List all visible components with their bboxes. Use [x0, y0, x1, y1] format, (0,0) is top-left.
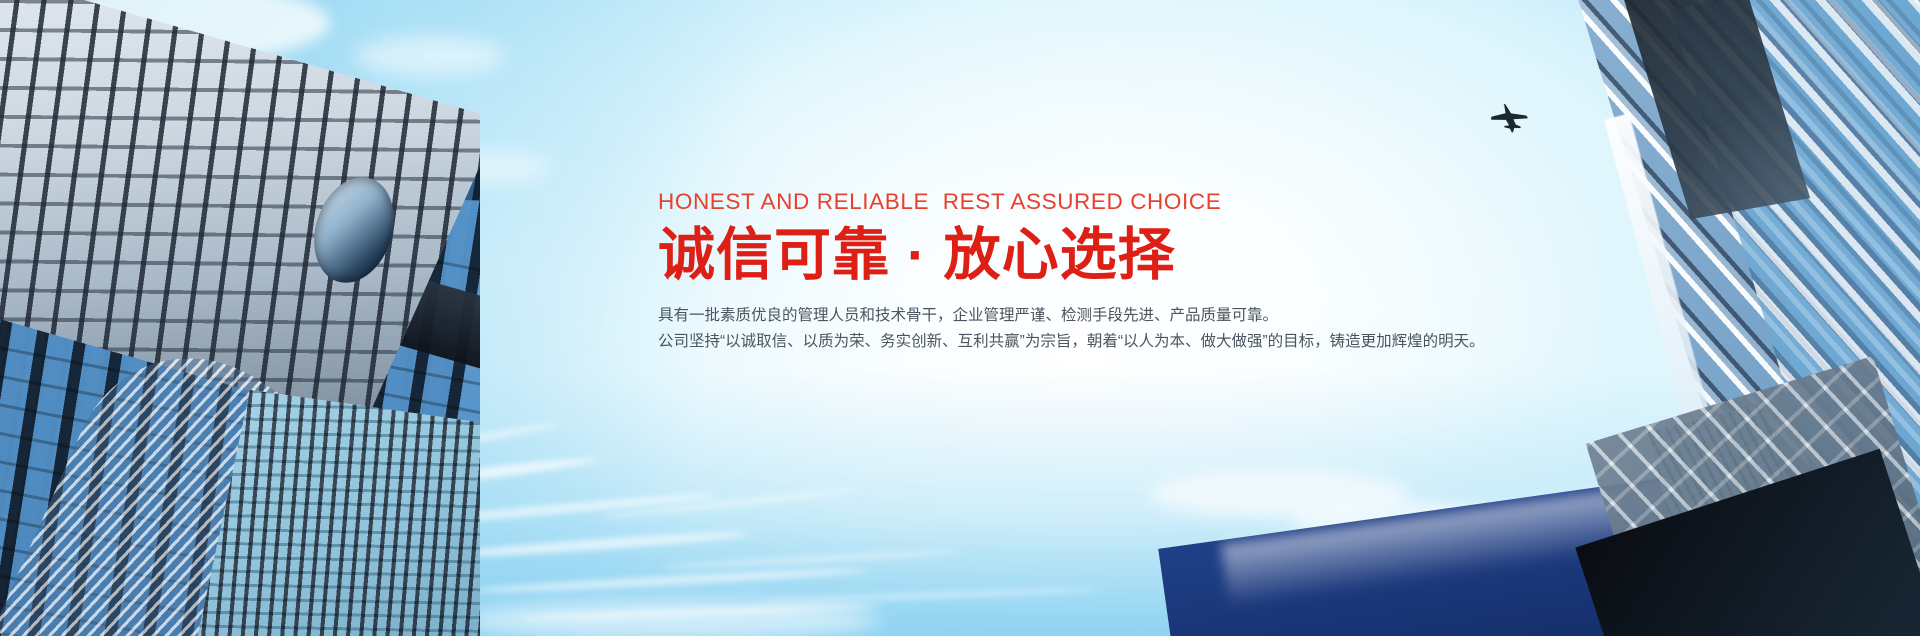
description-block: 具有一批素质优良的管理人员和技术骨干，企业管理严谨、检测手段先进、产品质量可靠。… — [658, 303, 1678, 356]
description-line-1: 具有一批素质优良的管理人员和技术骨干，企业管理严谨、检测手段先进、产品质量可靠。 — [658, 303, 1678, 330]
description-line-2: 公司坚持“以诚取信、以质为荣、务实创新、互利共赢”为宗旨，朝着“以人为本、做大做… — [658, 329, 1678, 356]
left-skyscraper — [0, 0, 480, 636]
page-title: 诚信可靠 · 放心选择 — [658, 224, 1678, 287]
english-tagline: HONEST AND RELIABLE REST ASSURED CHOICE — [658, 188, 1678, 215]
banner-copy: HONEST AND RELIABLE REST ASSURED CHOICE … — [658, 188, 1678, 356]
hero-banner: HONEST AND RELIABLE REST ASSURED CHOICE … — [0, 0, 1920, 636]
